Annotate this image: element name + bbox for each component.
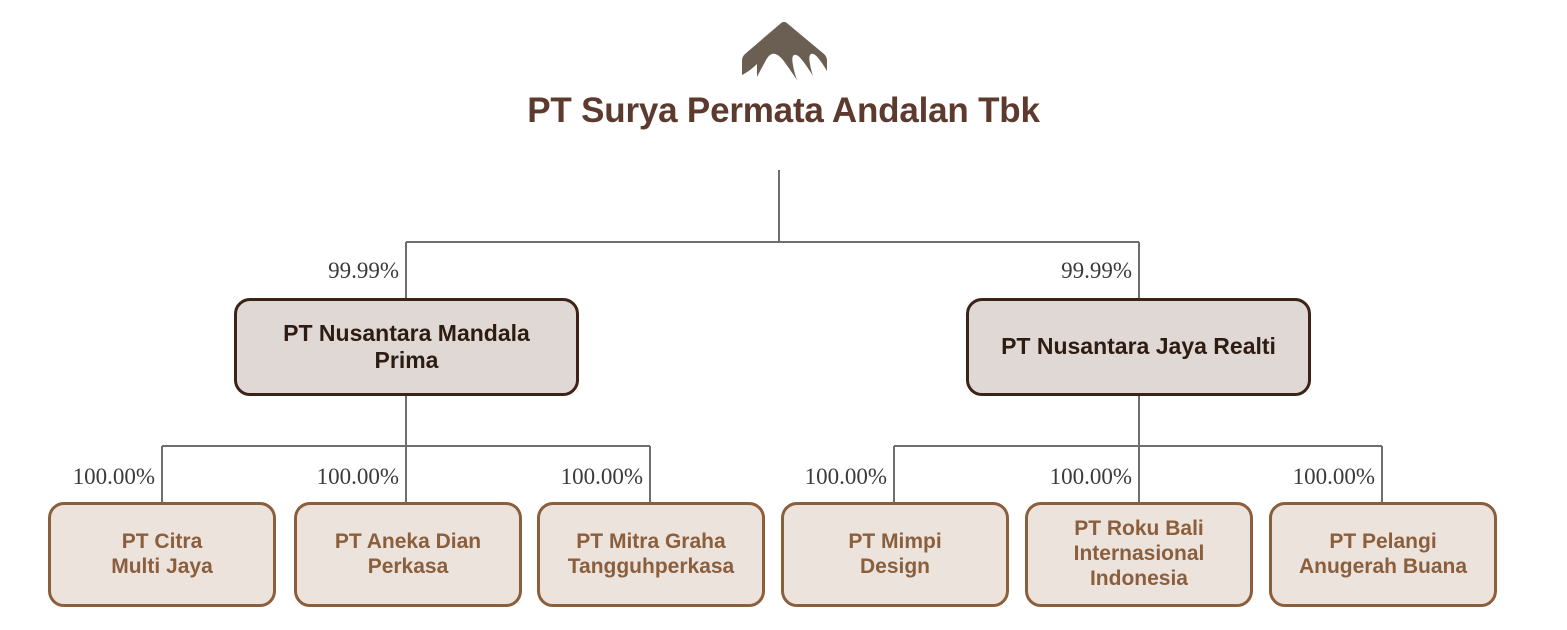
node-pt-mimpi-design[interactable]: PT Mimpi Design: [781, 502, 1009, 607]
node-pt-roku-bali-internasional-indonesia[interactable]: PT Roku Bali Internasional Indonesia: [1025, 502, 1253, 607]
ownership-pct-aneka-dian-perkasa: 100.00%: [317, 464, 406, 490]
ownership-pct-mitra-graha-tangguhperkasa: 100.00%: [561, 464, 650, 490]
node-pt-nusantara-mandala-prima[interactable]: PT Nusantara Mandala Prima: [234, 298, 579, 396]
ownership-pct-pelangi-anugerah-buana: 100.00%: [1293, 464, 1382, 490]
ownership-pct-npm: 99.99%: [328, 258, 406, 284]
ownership-pct-citra-multi-jaya: 100.00%: [73, 464, 162, 490]
page-title: PT Surya Permata Andalan Tbk: [0, 92, 1567, 131]
node-pt-pelangi-anugerah-buana[interactable]: PT Pelangi Anugerah Buana: [1269, 502, 1497, 607]
node-pt-nusantara-jaya-realti[interactable]: PT Nusantara Jaya Realti: [966, 298, 1311, 396]
node-pt-aneka-dian-perkasa[interactable]: PT Aneka Dian Perkasa: [294, 502, 522, 607]
ownership-pct-roku-bali-internasional-indonesia: 100.00%: [1050, 464, 1139, 490]
node-pt-mitra-graha-tangguhperkasa[interactable]: PT Mitra Graha Tangguhperkasa: [537, 502, 765, 607]
ownership-pct-mimpi-design: 100.00%: [805, 464, 894, 490]
root-node: PT Surya Permata Andalan Tbk: [0, 20, 1567, 131]
org-chart-canvas: PT Surya Permata Andalan Tbk 99.99% 99.9…: [0, 0, 1567, 630]
mountain-crown-logo-icon: [740, 20, 828, 82]
node-pt-citra-multi-jaya[interactable]: PT Citra Multi Jaya: [48, 502, 276, 607]
ownership-pct-njr: 99.99%: [1061, 258, 1139, 284]
